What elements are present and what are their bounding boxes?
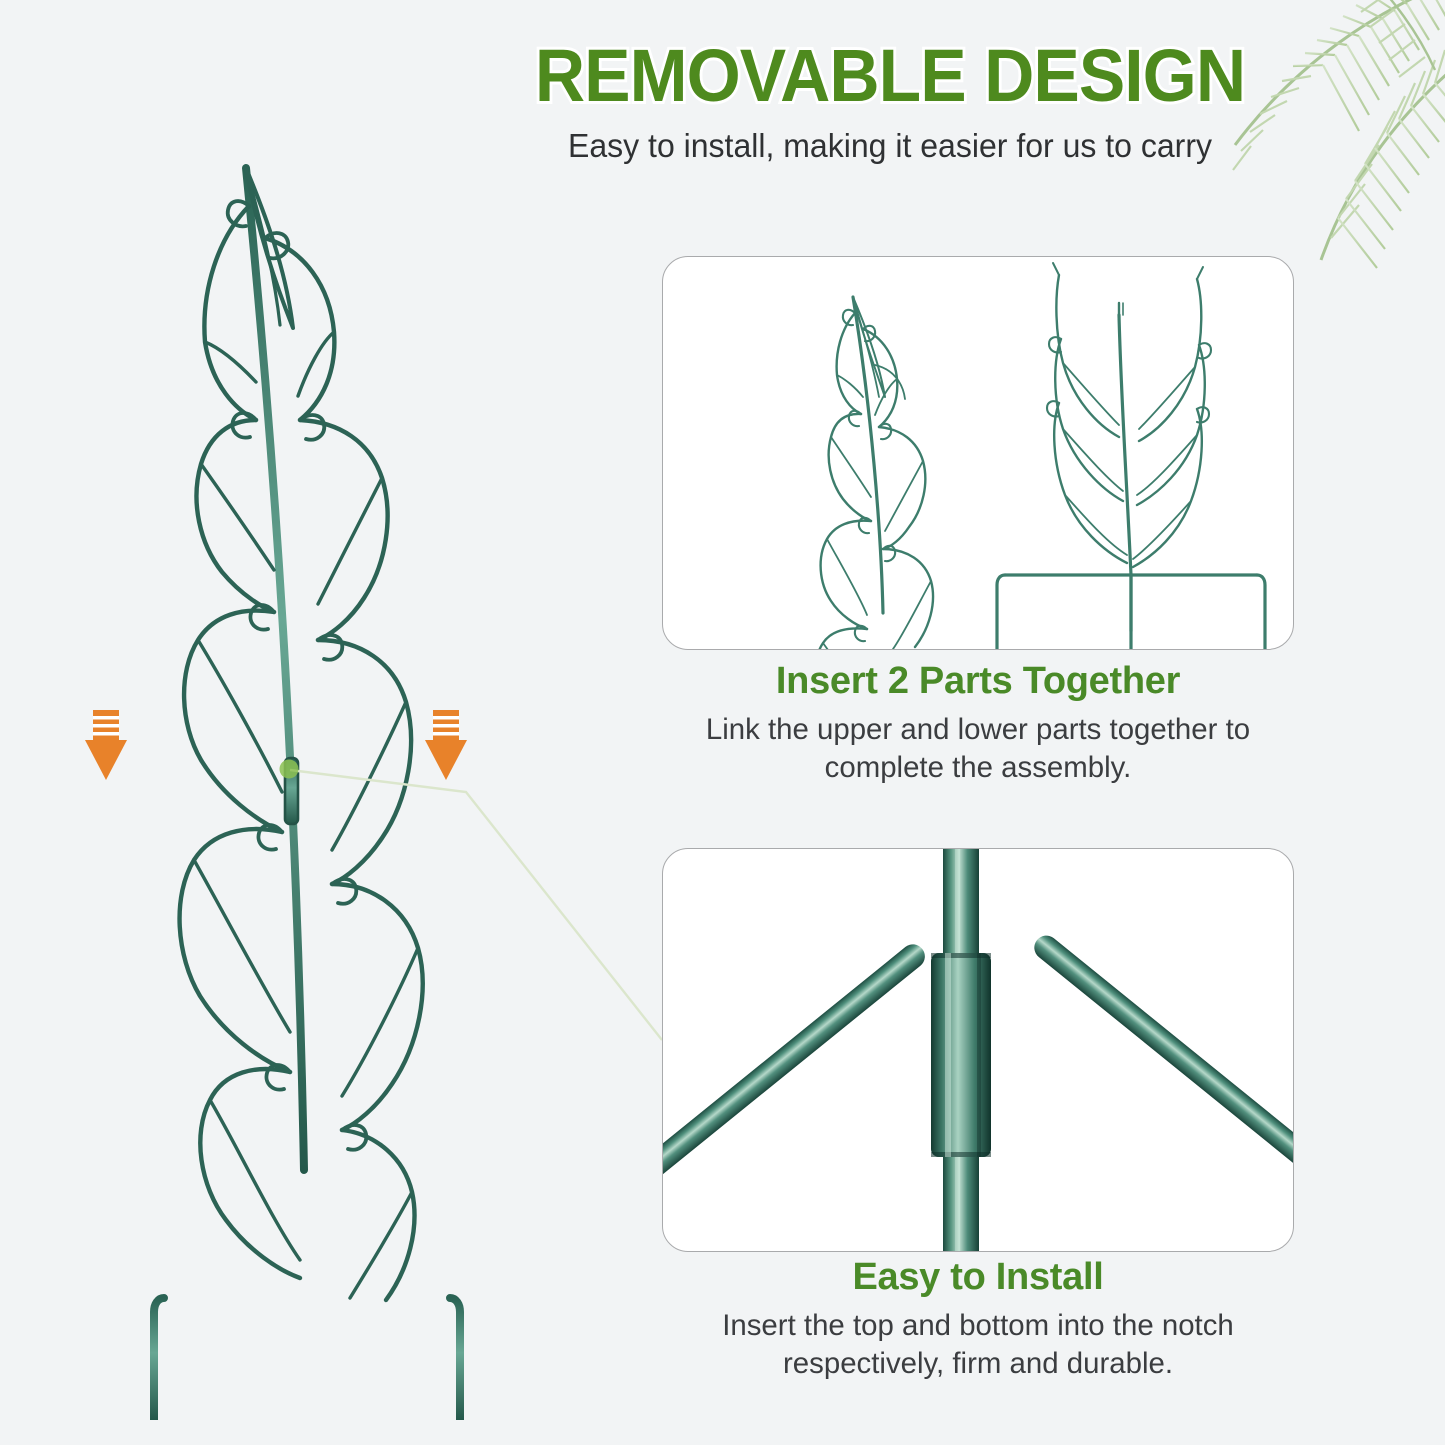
down-arrow-right-icon bbox=[425, 710, 467, 782]
two-halves-illustration bbox=[663, 257, 1294, 650]
card-insert-parts bbox=[662, 256, 1294, 650]
caption-insert-parts: Insert 2 Parts Together Link the upper a… bbox=[662, 660, 1294, 788]
down-arrow-left-icon bbox=[85, 710, 127, 782]
page-title: REMOVABLE DESIGN bbox=[392, 38, 1388, 115]
card-easy-install bbox=[662, 848, 1294, 1252]
caption-easy-install: Easy to Install Insert the top and botto… bbox=[662, 1256, 1294, 1384]
caption-title-insert-parts: Insert 2 Parts Together bbox=[662, 660, 1294, 703]
caption-body-insert-parts: Link the upper and lower parts together … bbox=[668, 711, 1287, 788]
infographic-stage: REMOVABLE DESIGN Easy to install, making… bbox=[0, 0, 1445, 1445]
page-subtitle: Easy to install, making it easier for us… bbox=[376, 127, 1404, 165]
caption-body-easy-install: Insert the top and bottom into the notch… bbox=[668, 1307, 1287, 1384]
connector-closeup-illustration bbox=[663, 849, 1294, 1252]
caption-title-easy-install: Easy to Install bbox=[662, 1256, 1294, 1299]
